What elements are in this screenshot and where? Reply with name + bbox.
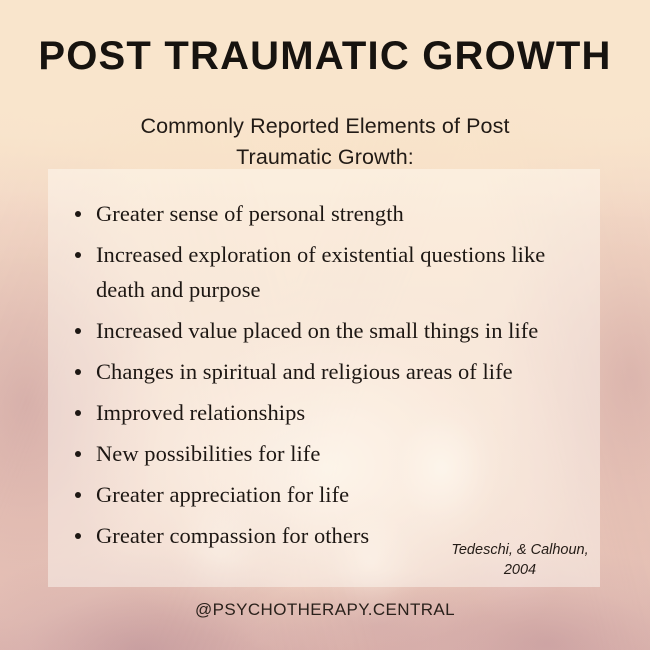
page-subtitle: Commonly Reported Elements of Post Traum… (95, 111, 555, 173)
list-item: New possibilities for life (72, 436, 592, 471)
list-item: Changes in spiritual and religious areas… (72, 354, 592, 389)
list-item: Increased value placed on the small thin… (72, 313, 592, 348)
list-item: Greater appreciation for life (72, 477, 592, 512)
page-title: POST TRAUMATIC GROWTH (0, 36, 650, 76)
citation-authors: Tedeschi, & Calhoun, (451, 542, 588, 558)
list-item: Improved relationships (72, 395, 592, 430)
list-item: Increased exploration of existential que… (72, 237, 592, 307)
growth-elements-list: Greater sense of personal strength Incre… (72, 196, 592, 559)
citation-year: 2004 (504, 562, 536, 578)
source-citation: Tedeschi, & Calhoun, 2004 (430, 540, 610, 580)
list-item: Greater sense of personal strength (72, 196, 592, 231)
poster-canvas: POST TRAUMATIC GROWTH Commonly Reported … (0, 0, 650, 650)
social-handle: @PSYCHOTHERAPY.CENTRAL (0, 601, 650, 618)
